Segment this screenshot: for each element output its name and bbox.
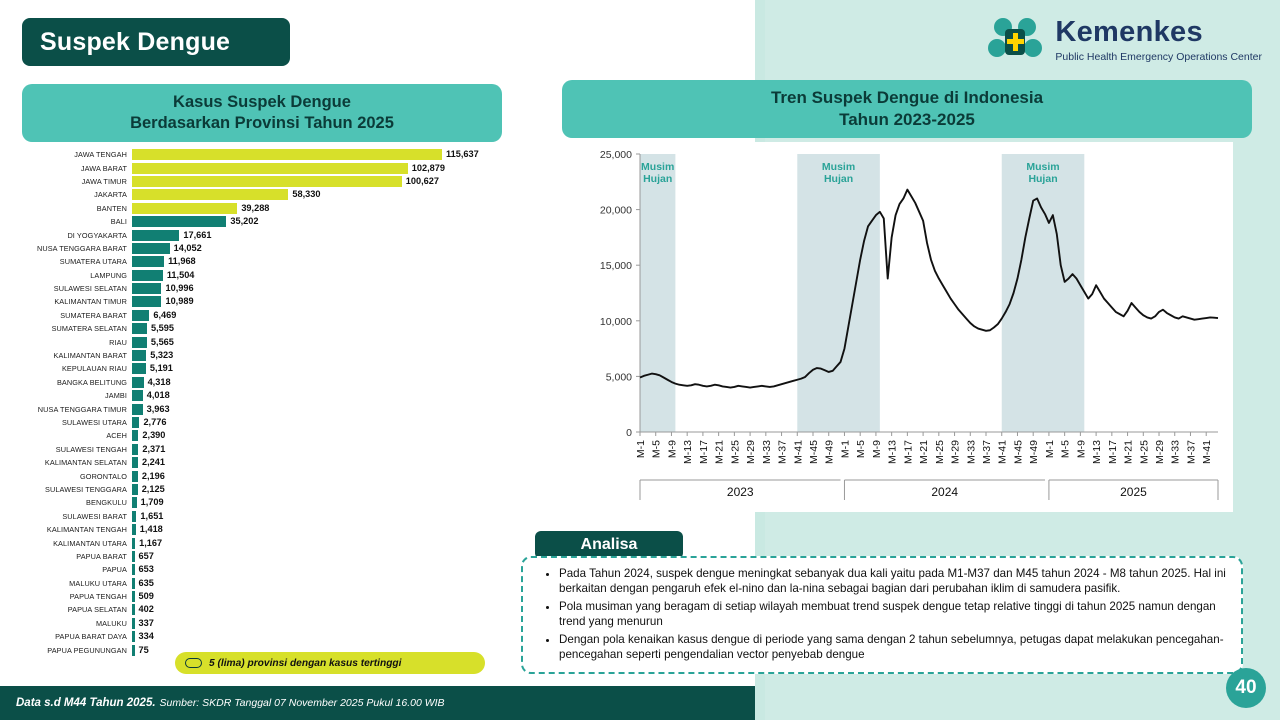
bar-value-label: 2,241 xyxy=(142,457,165,468)
bar-row: JAMBI4,018 xyxy=(22,389,522,402)
bar-category-label: ACEH xyxy=(22,431,132,440)
analisa-bullet: Pola musiman yang beragam di setiap wila… xyxy=(559,599,1229,630)
bar-row: SULAWESI SELATAN10,996 xyxy=(22,282,522,295)
bar-row: KALIMANTAN BARAT5,323 xyxy=(22,349,522,362)
bar-track: 10,989 xyxy=(132,296,522,307)
bar-value-label: 75 xyxy=(139,645,149,656)
bar-track: 2,125 xyxy=(132,484,522,495)
bar-track: 115,637 xyxy=(132,149,522,160)
bar-row: PAPUA SELATAN402 xyxy=(22,603,522,616)
bar-fill xyxy=(132,203,237,214)
musim-hujan-label: Musim xyxy=(1026,161,1059,173)
x-tick-label: M-49 xyxy=(824,440,836,464)
y-tick-label: 10,000 xyxy=(600,316,632,328)
bar-fill xyxy=(132,511,136,522)
musim-hujan-label: Hujan xyxy=(1028,173,1057,185)
bar-category-label: SULAWESI TENGGARA xyxy=(22,485,132,494)
bar-category-label: PAPUA PEGUNUNGAN xyxy=(22,646,132,655)
bar-row: BANTEN39,288 xyxy=(22,202,522,215)
y-tick-label: 5,000 xyxy=(606,371,632,383)
bar-fill xyxy=(132,270,163,281)
bar-fill xyxy=(132,377,144,388)
year-label: 2023 xyxy=(727,485,754,499)
year-label: 2025 xyxy=(1120,485,1147,499)
bar-value-label: 14,052 xyxy=(174,243,202,254)
bar-track: 2,776 xyxy=(132,417,522,428)
bar-row: PAPUA BARAT657 xyxy=(22,550,522,563)
bar-category-label: PAPUA BARAT DAYA xyxy=(22,632,132,641)
trend-line xyxy=(640,190,1218,388)
x-tick-label: M-5 xyxy=(1060,440,1072,458)
x-tick-label: M-17 xyxy=(902,440,914,464)
year-label: 2024 xyxy=(931,485,958,499)
bar-track: 3,963 xyxy=(132,404,522,415)
bar-category-label: PAPUA TENGAH xyxy=(22,592,132,601)
bar-fill xyxy=(132,189,288,200)
x-tick-label: M-1 xyxy=(635,440,647,458)
bar-value-label: 39,288 xyxy=(241,203,269,214)
x-tick-label: M-13 xyxy=(887,440,899,464)
bar-value-label: 5,595 xyxy=(151,323,174,334)
footer-source: Data s.d M44 Tahun 2025. Sumber: SKDR Ta… xyxy=(0,686,755,720)
bar-track: 5,565 xyxy=(132,337,522,348)
bar-value-label: 100,627 xyxy=(406,176,439,187)
bar-row: SULAWESI UTARA2,776 xyxy=(22,416,522,429)
bar-row: BENGKULU1,709 xyxy=(22,496,522,509)
bar-row: MALUKU UTARA635 xyxy=(22,577,522,590)
bar-row: SUMATERA BARAT6,469 xyxy=(22,309,522,322)
bar-track: 657 xyxy=(132,551,522,562)
bar-track: 1,709 xyxy=(132,497,522,508)
footer-bold-text: Data s.d M44 Tahun 2025. xyxy=(16,697,156,709)
bar-row: DI YOGYAKARTA17,661 xyxy=(22,228,522,241)
bar-category-label: JAMBI xyxy=(22,391,132,400)
bar-track: 635 xyxy=(132,578,522,589)
x-tick-label: M-45 xyxy=(1012,440,1024,464)
x-tick-label: M-33 xyxy=(1170,440,1182,464)
musim-hujan-band xyxy=(797,154,880,432)
x-tick-label: M-37 xyxy=(777,440,789,464)
x-tick-label: M-41 xyxy=(1201,440,1213,464)
x-tick-label: M-25 xyxy=(1138,440,1150,464)
line-chart-title-line2: Tahun 2023-2025 xyxy=(839,109,975,131)
bar-fill xyxy=(132,604,135,615)
bar-row: JAWA TENGAH115,637 xyxy=(22,148,522,161)
bar-row: SUMATERA UTARA11,968 xyxy=(22,255,522,268)
bar-track: 58,330 xyxy=(132,189,522,200)
musim-hujan-label: Hujan xyxy=(643,173,672,185)
bar-category-label: SULAWESI BARAT xyxy=(22,512,132,521)
bar-row: LAMPUNG11,504 xyxy=(22,269,522,282)
bar-value-label: 1,167 xyxy=(139,538,162,549)
bar-value-label: 35,202 xyxy=(230,216,258,227)
bar-fill xyxy=(132,631,135,642)
bar-row: KALIMANTAN UTARA1,167 xyxy=(22,536,522,549)
x-tick-label: M-5 xyxy=(855,440,867,458)
province-bar-chart: JAWA TENGAH115,637JAWA BARAT102,879JAWA … xyxy=(22,148,522,663)
bar-row: BANGKA BELITUNG4,318 xyxy=(22,376,522,389)
bar-category-label: DI YOGYAKARTA xyxy=(22,231,132,240)
x-tick-label: M-13 xyxy=(1091,440,1103,464)
bar-row: KEPULAUAN RIAU5,191 xyxy=(22,362,522,375)
bar-chart-title: Kasus Suspek Dengue Berdasarkan Provinsi… xyxy=(22,84,502,142)
bar-row: JAWA TIMUR100,627 xyxy=(22,175,522,188)
bar-fill xyxy=(132,578,135,589)
bar-category-label: PAPUA SELATAN xyxy=(22,605,132,614)
x-tick-label: M-5 xyxy=(651,440,663,458)
x-tick-label: M-9 xyxy=(666,440,678,458)
logo-subtitle: Public Health Emergency Operations Cente… xyxy=(1055,51,1262,64)
bar-track: 653 xyxy=(132,564,522,575)
bar-category-label: JAWA TENGAH xyxy=(22,150,132,159)
bar-category-label: KALIMANTAN TENGAH xyxy=(22,525,132,534)
bar-fill xyxy=(132,390,143,401)
x-tick-label: M-37 xyxy=(1185,440,1197,464)
x-tick-label: M-41 xyxy=(792,440,804,464)
bar-row: GORONTALO2,196 xyxy=(22,469,522,482)
bar-fill xyxy=(132,417,139,428)
bar-category-label: SULAWESI TENGAH xyxy=(22,445,132,454)
x-tick-label: M-33 xyxy=(761,440,773,464)
bar-value-label: 2,196 xyxy=(142,471,165,482)
bar-category-label: LAMPUNG xyxy=(22,271,132,280)
bar-value-label: 337 xyxy=(139,618,154,629)
bar-fill xyxy=(132,283,161,294)
bar-track: 2,371 xyxy=(132,444,522,455)
x-tick-label: M-1 xyxy=(839,440,851,458)
bar-category-label: KEPULAUAN RIAU xyxy=(22,364,132,373)
analisa-label: Analisa xyxy=(535,531,683,559)
bar-category-label: SULAWESI UTARA xyxy=(22,418,132,427)
bar-value-label: 11,968 xyxy=(168,256,196,267)
line-chart-title-line1: Tren Suspek Dengue di Indonesia xyxy=(771,87,1043,109)
bar-chart-title-line2: Berdasarkan Provinsi Tahun 2025 xyxy=(130,113,394,134)
bar-category-label: PAPUA xyxy=(22,565,132,574)
bar-track: 1,167 xyxy=(132,538,522,549)
line-chart-title: Tren Suspek Dengue di Indonesia Tahun 20… xyxy=(562,80,1252,138)
musim-hujan-label: Musim xyxy=(641,161,674,173)
bar-value-label: 4,318 xyxy=(148,377,171,388)
bar-value-label: 10,996 xyxy=(165,283,193,294)
bar-track: 39,288 xyxy=(132,203,522,214)
y-tick-label: 25,000 xyxy=(600,149,632,161)
bar-value-label: 1,418 xyxy=(140,524,163,535)
bar-value-label: 17,661 xyxy=(183,230,211,241)
bar-track: 100,627 xyxy=(132,176,522,187)
legend-swatch-icon xyxy=(185,658,202,668)
bar-value-label: 635 xyxy=(139,578,154,589)
bar-track: 5,595 xyxy=(132,323,522,334)
bar-category-label: BANGKA BELITUNG xyxy=(22,378,132,387)
bar-category-label: KALIMANTAN TIMUR xyxy=(22,297,132,306)
bar-category-label: MALUKU xyxy=(22,619,132,628)
bar-category-label: BANTEN xyxy=(22,204,132,213)
y-tick-label: 15,000 xyxy=(600,260,632,272)
bar-row: SULAWESI TENGAH2,371 xyxy=(22,443,522,456)
x-tick-label: M-25 xyxy=(729,440,741,464)
x-tick-label: M-33 xyxy=(965,440,977,464)
bar-category-label: KALIMANTAN SELATAN xyxy=(22,458,132,467)
bar-row: SUMATERA SELATAN5,595 xyxy=(22,322,522,335)
bar-track: 6,469 xyxy=(132,310,522,321)
bar-row: JAKARTA58,330 xyxy=(22,188,522,201)
bar-value-label: 115,637 xyxy=(446,149,479,160)
bar-track: 5,191 xyxy=(132,363,522,374)
x-tick-label: M-13 xyxy=(682,440,694,464)
bar-fill xyxy=(132,457,138,468)
bar-row: PAPUA653 xyxy=(22,563,522,576)
bar-row: SULAWESI TENGGARA2,125 xyxy=(22,483,522,496)
bar-value-label: 6,469 xyxy=(153,310,176,321)
analisa-bullet: Pada Tahun 2024, suspek dengue meningkat… xyxy=(559,566,1229,597)
bar-value-label: 1,709 xyxy=(141,497,164,508)
page-number-text: 40 xyxy=(1235,677,1256,699)
x-tick-label: M-17 xyxy=(698,440,710,464)
page-number-badge: 40 xyxy=(1226,668,1266,708)
x-tick-label: M-21 xyxy=(714,440,726,464)
kemenkes-logo: Kemenkes Public Health Emergency Operati… xyxy=(987,10,1262,72)
analisa-bullet: Dengan pola kenaikan kasus dengue di per… xyxy=(559,632,1229,663)
bar-category-label: RIAU xyxy=(22,338,132,347)
bar-value-label: 2,371 xyxy=(142,444,165,455)
bar-track: 334 xyxy=(132,631,522,642)
trend-line-chart: MusimHujanMusimHujanMusimHujan05,00010,0… xyxy=(578,142,1233,512)
bar-category-label: SUMATERA BARAT xyxy=(22,311,132,320)
bar-row: MALUKU337 xyxy=(22,617,522,630)
bar-value-label: 334 xyxy=(139,631,154,642)
analisa-box: Pada Tahun 2024, suspek dengue meningkat… xyxy=(521,556,1243,674)
musim-hujan-label: Hujan xyxy=(824,173,853,185)
bar-fill xyxy=(132,296,161,307)
bar-track: 337 xyxy=(132,618,522,629)
bar-fill xyxy=(132,471,138,482)
bar-chart-legend: 5 (lima) provinsi dengan kasus tertinggi xyxy=(175,652,485,674)
bar-category-label: SUMATERA SELATAN xyxy=(22,324,132,333)
bar-track: 102,879 xyxy=(132,163,522,174)
bar-fill xyxy=(132,444,138,455)
y-tick-label: 20,000 xyxy=(600,205,632,217)
kemenkes-logo-icon xyxy=(987,15,1045,67)
bar-row: ACEH2,390 xyxy=(22,429,522,442)
bar-fill xyxy=(132,430,138,441)
bar-track: 2,241 xyxy=(132,457,522,468)
bar-row: NUSA TENGGARA BARAT14,052 xyxy=(22,242,522,255)
bar-row: KALIMANTAN SELATAN2,241 xyxy=(22,456,522,469)
bar-fill xyxy=(132,176,402,187)
bar-fill xyxy=(132,323,147,334)
musim-hujan-band xyxy=(640,154,675,432)
bar-category-label: KALIMANTAN BARAT xyxy=(22,351,132,360)
bar-row: NUSA TENGGARA TIMUR3,963 xyxy=(22,402,522,415)
x-tick-label: M-21 xyxy=(1123,440,1135,464)
bar-fill xyxy=(132,564,135,575)
x-tick-label: M-29 xyxy=(950,440,962,464)
bar-value-label: 1,651 xyxy=(140,511,163,522)
bar-track: 11,504 xyxy=(132,270,522,281)
bar-value-label: 402 xyxy=(139,604,154,615)
bar-row: BALI35,202 xyxy=(22,215,522,228)
bar-value-label: 5,191 xyxy=(150,363,173,374)
bar-category-label: KALIMANTAN UTARA xyxy=(22,539,132,548)
x-tick-label: M-29 xyxy=(745,440,757,464)
bar-fill xyxy=(132,538,135,549)
bar-fill xyxy=(132,310,149,321)
bar-category-label: BENGKULU xyxy=(22,498,132,507)
musim-hujan-label: Musim xyxy=(822,161,855,173)
bar-category-label: JAWA BARAT xyxy=(22,164,132,173)
bar-value-label: 5,323 xyxy=(150,350,173,361)
bar-fill xyxy=(132,484,138,495)
x-tick-label: M-9 xyxy=(871,440,883,458)
x-tick-label: M-21 xyxy=(918,440,930,464)
bar-fill xyxy=(132,163,408,174)
bar-fill xyxy=(132,256,164,267)
footer-normal-text: Sumber: SKDR Tanggal 07 November 2025 Pu… xyxy=(160,697,445,709)
bar-value-label: 5,565 xyxy=(151,337,174,348)
bar-category-label: BALI xyxy=(22,217,132,226)
logo-title: Kemenkes xyxy=(1055,18,1262,47)
bar-fill xyxy=(132,404,143,415)
bar-value-label: 10,989 xyxy=(165,296,193,307)
bar-fill xyxy=(132,524,136,535)
bar-category-label: JAKARTA xyxy=(22,190,132,199)
bar-value-label: 102,879 xyxy=(412,163,445,174)
x-tick-label: M-9 xyxy=(1075,440,1087,458)
x-tick-label: M-45 xyxy=(808,440,820,464)
bar-fill xyxy=(132,216,226,227)
bar-value-label: 58,330 xyxy=(292,189,320,200)
bar-value-label: 657 xyxy=(139,551,154,562)
x-tick-label: M-29 xyxy=(1154,440,1166,464)
bar-value-label: 3,963 xyxy=(147,404,170,415)
bar-track: 35,202 xyxy=(132,216,522,227)
bar-fill xyxy=(132,149,442,160)
bar-fill xyxy=(132,337,147,348)
bar-track: 5,323 xyxy=(132,350,522,361)
bar-value-label: 653 xyxy=(139,564,154,575)
bar-fill xyxy=(132,645,135,656)
bar-fill xyxy=(132,350,146,361)
bar-value-label: 509 xyxy=(139,591,154,602)
bar-fill xyxy=(132,591,135,602)
bar-row: KALIMANTAN TIMUR10,989 xyxy=(22,295,522,308)
y-tick-label: 0 xyxy=(626,427,632,439)
bar-row: PAPUA TENGAH509 xyxy=(22,590,522,603)
bar-fill xyxy=(132,230,179,241)
bar-track: 11,968 xyxy=(132,256,522,267)
bar-category-label: MALUKU UTARA xyxy=(22,579,132,588)
bar-fill xyxy=(132,363,146,374)
bar-track: 402 xyxy=(132,604,522,615)
bar-track: 4,318 xyxy=(132,377,522,388)
bar-fill xyxy=(132,618,135,629)
bar-category-label: SULAWESI SELATAN xyxy=(22,284,132,293)
x-tick-label: M-49 xyxy=(1028,440,1040,464)
bar-value-label: 4,018 xyxy=(147,390,170,401)
analisa-label-text: Analisa xyxy=(581,536,638,554)
bar-row: SULAWESI BARAT1,651 xyxy=(22,510,522,523)
bar-track: 1,651 xyxy=(132,511,522,522)
x-tick-label: M-17 xyxy=(1107,440,1119,464)
page-title-text: Suspek Dengue xyxy=(40,28,230,57)
bar-row: PAPUA BARAT DAYA334 xyxy=(22,630,522,643)
x-tick-label: M-25 xyxy=(934,440,946,464)
bar-track: 10,996 xyxy=(132,283,522,294)
legend-text: 5 (lima) provinsi dengan kasus tertinggi xyxy=(209,658,401,669)
bar-row: KALIMANTAN TENGAH1,418 xyxy=(22,523,522,536)
bar-track: 2,196 xyxy=(132,471,522,482)
x-tick-label: M-37 xyxy=(981,440,993,464)
bar-track: 2,390 xyxy=(132,430,522,441)
bar-value-label: 2,390 xyxy=(142,430,165,441)
bar-value-label: 2,125 xyxy=(142,484,165,495)
bar-category-label: SUMATERA UTARA xyxy=(22,257,132,266)
page-title: Suspek Dengue xyxy=(22,18,290,66)
bar-track: 4,018 xyxy=(132,390,522,401)
bar-fill xyxy=(132,551,135,562)
bar-value-label: 11,504 xyxy=(167,270,195,281)
bar-row: JAWA BARAT102,879 xyxy=(22,161,522,174)
bar-category-label: GORONTALO xyxy=(22,472,132,481)
bar-track: 14,052 xyxy=(132,243,522,254)
bar-value-label: 2,776 xyxy=(143,417,166,428)
x-tick-label: M-41 xyxy=(997,440,1009,464)
bar-category-label: PAPUA BARAT xyxy=(22,552,132,561)
bar-chart-title-line1: Kasus Suspek Dengue xyxy=(173,92,351,113)
bar-category-label: JAWA TIMUR xyxy=(22,177,132,186)
bar-row: RIAU5,565 xyxy=(22,335,522,348)
bar-track: 17,661 xyxy=(132,230,522,241)
bar-category-label: NUSA TENGGARA BARAT xyxy=(22,244,132,253)
bar-track: 1,418 xyxy=(132,524,522,535)
bar-fill xyxy=(132,497,137,508)
bar-fill xyxy=(132,243,170,254)
x-tick-label: M-1 xyxy=(1044,440,1056,458)
bar-track: 509 xyxy=(132,591,522,602)
bar-category-label: NUSA TENGGARA TIMUR xyxy=(22,405,132,414)
